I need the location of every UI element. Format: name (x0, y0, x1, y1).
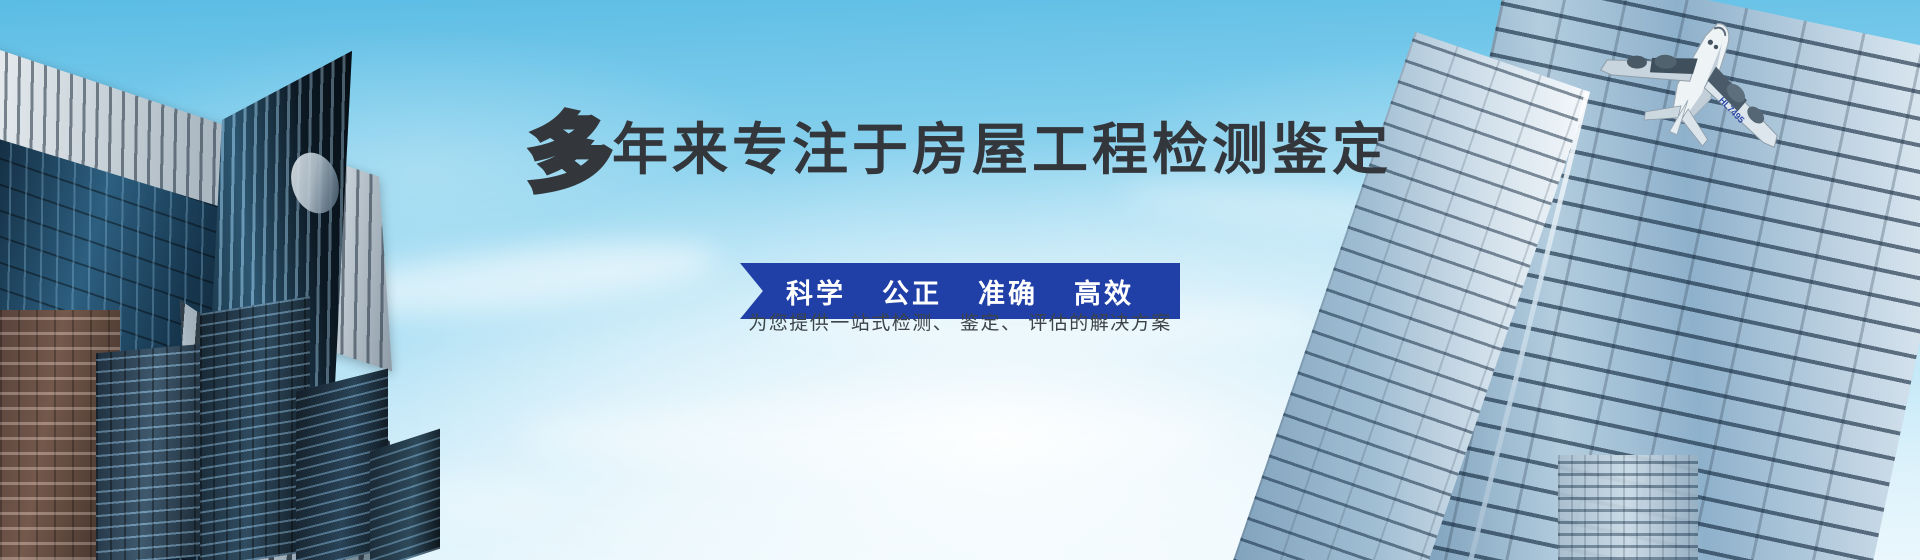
banner-subtitle: 为您提供一站式检测、 鉴定、 评估的解决方案 (0, 308, 1920, 335)
banner-content: 多年来专注于房屋工程检测鉴定 科学 公正 准确 高效 为您提供一站式检测、 鉴定… (0, 0, 1920, 560)
headline-text: 年来专注于房屋工程检测鉴定 (612, 122, 1392, 178)
hero-banner: HL7495 多年来专注于房屋工程检测鉴定 科学 公正 准确 高效 为您提供一站… (0, 0, 1920, 560)
headline-lead-character: 多 (528, 112, 610, 196)
ribbon-word-1: 科学 (786, 272, 846, 311)
page-title: 多年来专注于房屋工程检测鉴定 (0, 112, 1920, 196)
ribbon-word-2: 公正 (882, 272, 942, 311)
ribbon-word-3: 准确 (978, 272, 1038, 311)
ribbon-word-4: 高效 (1074, 272, 1134, 311)
